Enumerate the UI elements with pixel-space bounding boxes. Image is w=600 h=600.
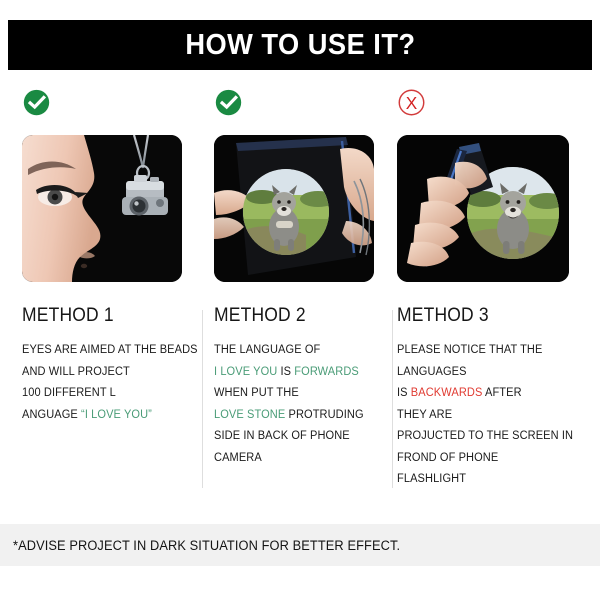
body-text: LANGUAGES <box>397 366 467 378</box>
body-text: ANGUAGE <box>22 409 81 421</box>
method-body-line: LANGUAGES <box>397 362 592 384</box>
column-divider-1 <box>202 310 203 488</box>
green-check-circle-icon <box>22 88 51 117</box>
method-column-2: METHOD 2 THE LANGUAGE OFI LOVE YOU IS FO… <box>193 88 383 498</box>
footer-note: *ADVISE PROJECT IN DARK SITUATION FOR BE… <box>13 538 400 553</box>
method-body-line: ANGUAGE “I LOVE YOU” <box>22 405 186 427</box>
photo-face-and-pendant <box>22 135 182 282</box>
method-body-line: EYES ARE AIMED AT THE BEADS <box>22 340 186 362</box>
method-body-line: FLASHLIGHT <box>397 469 592 491</box>
method-body-line: THE LANGUAGE OF <box>214 340 376 362</box>
method-body-line: PLEASE NOTICE THAT THE <box>397 340 592 362</box>
method-body-line: I LOVE YOU IS FORWARDS <box>214 362 376 384</box>
method-column-1: METHOD 1 EYES ARE AIMED AT THE BEADSAND … <box>0 88 193 498</box>
body-text: PLEASE NOTICE THAT THE <box>397 344 542 356</box>
body-text: IS <box>277 366 294 378</box>
method-body-line: AND WILL PROJECT <box>22 362 186 384</box>
green-check-circle-icon <box>214 88 243 117</box>
method-body-line: LOVE STONE PROTRUDING <box>214 405 376 427</box>
column-divider-2 <box>392 310 393 488</box>
svg-text:X: X <box>406 93 418 113</box>
method-body-3: PLEASE NOTICE THAT THELANGUAGESIS BACKWA… <box>397 340 592 491</box>
body-text: WHEN PUT THE <box>214 387 299 399</box>
body-text: 100 DIFFERENT L <box>22 387 116 399</box>
body-text: IS <box>397 387 411 399</box>
body-text: CAMERA <box>214 452 262 464</box>
header-banner: HOW TO USE IT? <box>8 20 592 70</box>
body-text: PROTRUDING <box>285 409 363 421</box>
photo-phone-back-projection <box>214 135 374 282</box>
highlighted-text: LOVE STONE <box>214 409 285 421</box>
body-text: AND WILL PROJECT <box>22 366 130 378</box>
red-x-circle-icon: X <box>397 88 426 117</box>
body-text: FLASHLIGHT <box>397 473 466 485</box>
footer-banner: *ADVISE PROJECT IN DARK SITUATION FOR BE… <box>0 524 600 566</box>
method-body-2: THE LANGUAGE OFI LOVE YOU IS FORWARDSWHE… <box>214 340 376 469</box>
body-text: THE LANGUAGE OF <box>214 344 320 356</box>
body-text: EYES ARE AIMED AT THE BEADS <box>22 344 198 356</box>
method-column-3: X <box>383 88 600 498</box>
body-text: SIDE IN BACK OF PHONE <box>214 430 350 442</box>
method-body-line: THEY ARE <box>397 405 592 427</box>
method-body-line: 100 DIFFERENT L <box>22 383 186 405</box>
method-body-line: WHEN PUT THE <box>214 383 376 405</box>
infographic-page: HOW TO USE IT? <box>0 0 600 600</box>
method-title-2: METHOD 2 <box>214 305 369 327</box>
highlighted-text: FORWARDS <box>294 366 359 378</box>
method-title-1: METHOD 1 <box>22 305 179 327</box>
body-text: AFTER <box>482 387 521 399</box>
method-body-line: CAMERA <box>214 448 376 470</box>
method-title-3: METHOD 3 <box>397 305 584 327</box>
highlighted-text: BACKWARDS <box>411 387 483 399</box>
method-body-line: IS BACKWARDS AFTER <box>397 383 592 405</box>
body-text: FROND OF PHONE <box>397 452 498 464</box>
method-body-1: EYES ARE AIMED AT THE BEADSAND WILL PROJ… <box>22 340 186 426</box>
body-text: PROJUCTED TO THE SCREEN IN <box>397 430 573 442</box>
method-body-line: PROJUCTED TO THE SCREEN IN <box>397 426 592 448</box>
method-body-line: FROND OF PHONE <box>397 448 592 470</box>
highlighted-text: “I LOVE YOU” <box>81 409 152 421</box>
methods-row: METHOD 1 EYES ARE AIMED AT THE BEADSAND … <box>0 88 600 498</box>
body-text: THEY ARE <box>397 409 452 421</box>
page-title: HOW TO USE IT? <box>185 29 415 62</box>
method-body-line: SIDE IN BACK OF PHONE <box>214 426 376 448</box>
highlighted-text: I LOVE YOU <box>214 366 277 378</box>
photo-phone-flashlight-projection <box>397 135 569 282</box>
